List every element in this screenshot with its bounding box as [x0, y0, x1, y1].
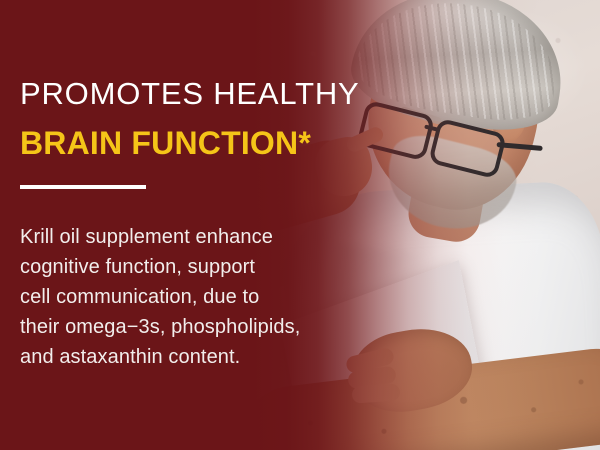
body-line: cell communication, due to — [20, 282, 360, 312]
body-copy: Krill oil supplement enhance cognitive f… — [20, 222, 360, 372]
body-line: their omega−3s, phospholipids, — [20, 312, 360, 342]
body-line: and astaxanthin content. — [20, 342, 360, 372]
divider-rule — [20, 185, 146, 189]
headline-accent: BRAIN FUNCTION* — [20, 124, 311, 162]
headline-primary: PROMOTES HEALTHY — [20, 76, 360, 112]
text-content: PROMOTES HEALTHY BRAIN FUNCTION* Krill o… — [20, 0, 420, 450]
body-line: cognitive function, support — [20, 252, 360, 282]
promo-banner: PROMOTES HEALTHY BRAIN FUNCTION* Krill o… — [0, 0, 600, 450]
body-line: Krill oil supplement enhance — [20, 222, 360, 252]
